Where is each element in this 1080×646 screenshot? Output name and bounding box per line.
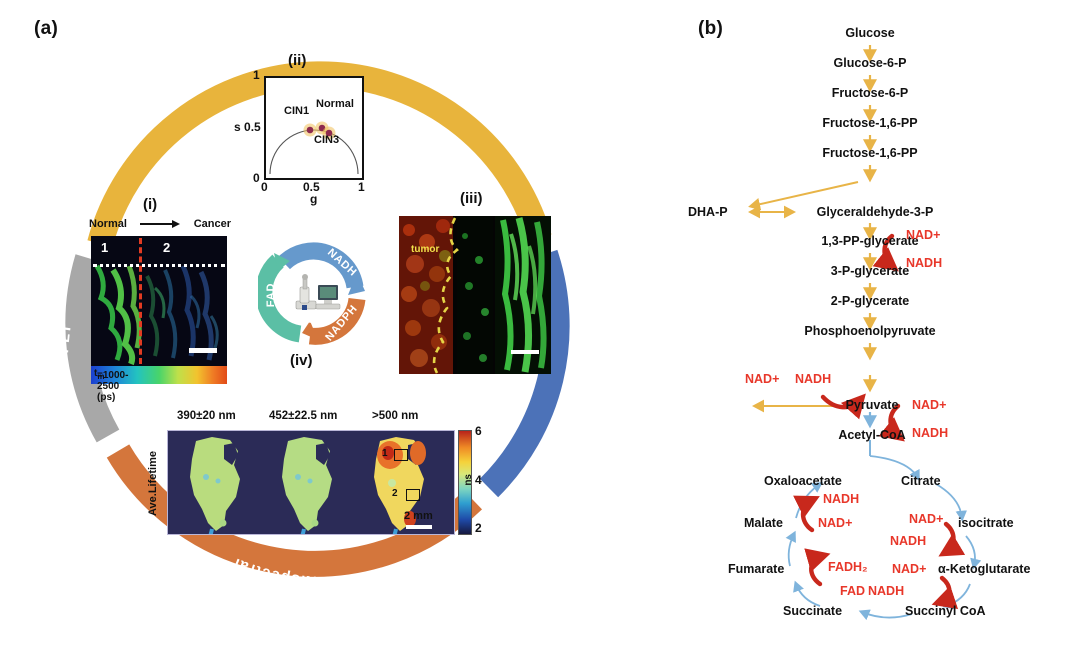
- node-oxaloacetate: Oxaloacetate: [764, 474, 842, 488]
- node-acetyl-coa: Acetyl-CoA: [838, 428, 905, 442]
- flim-region-2-label: 2: [163, 240, 170, 255]
- node-13-pp-glycerate: 1,3-PP-glycerate: [821, 234, 918, 248]
- node-2-p-glycerate: 2-P-glycerate: [831, 294, 910, 308]
- cofactor-arrow-iso-kg: [940, 578, 949, 602]
- phasor-point-label-cin3: CIN3: [314, 134, 339, 146]
- cofactor-arrow-cit-iso: [946, 524, 954, 552]
- flim-region-1-label: 1: [101, 240, 108, 255]
- ms-scalebar-label: 2 mm: [404, 510, 433, 522]
- ring-label-flt: FLT: [55, 322, 75, 354]
- phasor-ytick-top: 1: [253, 68, 260, 82]
- cofactor-curved-arrows: [803, 236, 954, 602]
- ms-roi-2[interactable]: [406, 489, 420, 501]
- ratio-tumor-annotation: tumor: [411, 244, 439, 255]
- cofactor-arrow-suc-fum: [811, 556, 822, 584]
- node-citrate: Citrate: [901, 474, 941, 488]
- node-phosphoenolpyruvate: Phosphoenolpyruvate: [804, 324, 935, 338]
- node-pyruvate: Pyruvate: [846, 398, 899, 412]
- ratio-image-panel: tumor: [399, 216, 551, 374]
- phasor-universal-circle: [266, 78, 362, 178]
- panel-b-metabolic-pathway: (b): [660, 0, 1080, 646]
- ms-scalebar: [406, 525, 432, 529]
- subpanel-label-iii: (iii): [460, 190, 483, 207]
- node-fructose-16-pp-b: Fructose-1,6-PP: [822, 146, 917, 160]
- node-glucose-6-p: Glucose-6-P: [834, 56, 907, 70]
- flim-boundary-dashed-line: [139, 238, 142, 364]
- node-fumarate: Fumarate: [728, 562, 784, 576]
- flim-colorbar-label: tm=1000-2500 (ps): [94, 368, 104, 381]
- flim-colorbar: tm=1000-2500 (ps): [91, 366, 227, 384]
- ratio-scalebar: [511, 350, 539, 354]
- instrument-hub: NADH NADPH FAD: [258, 237, 370, 349]
- flim-image-panel: Normal Cancer: [91, 236, 227, 384]
- cofactor-label-gap-nadh: NADH: [906, 256, 942, 270]
- ms-roi-2-label: 2: [392, 488, 398, 499]
- cofactor-label-pyracc-nadh: NADH: [912, 426, 948, 440]
- node-malate: Malate: [744, 516, 783, 530]
- hub-svg: NADH NADPH FAD: [258, 237, 370, 349]
- node-a-ketoglutarate: α-Ketoglutarate: [938, 562, 1030, 576]
- cofactor-label-maloaa-nadplus: NAD+: [818, 516, 852, 530]
- flim-label-cancer: Cancer: [194, 218, 231, 230]
- node-fructose-6-p: Fructose-6-P: [832, 86, 908, 100]
- ms-channel-title-2: 452±22.5 nm: [269, 410, 337, 422]
- node-fructose-16-pp-a: Fructose-1,6-PP: [822, 116, 917, 130]
- ms-roi-1[interactable]: [394, 449, 408, 461]
- ms-colorbar-min: 2: [475, 521, 482, 535]
- phasor-ylabel: s 0.5: [234, 120, 261, 134]
- right-arrow-icon: [140, 219, 180, 229]
- multispectral-panel: 390±20 nm 452±22.5 nm >500 nm Ave.Lifeti…: [167, 430, 477, 535]
- node-succinyl-coa: Succinyl CoA: [905, 604, 986, 618]
- phasor-xtick-0: 0: [261, 180, 268, 194]
- phasor-point-label-normal: Normal: [316, 98, 354, 110]
- phasor-plot: 1 s 0.5 0 0 0.5 1 g CIN1 Normal CIN3: [236, 72, 366, 194]
- cofactor-label-lactate-nadh: NADH: [795, 372, 831, 386]
- node-3-p-glycerate: 3-P-glycerate: [831, 264, 910, 278]
- node-succinate: Succinate: [783, 604, 842, 618]
- node-dha-p: DHA-P: [688, 205, 728, 219]
- cofactor-label-isokg-nadplus: NAD+: [892, 562, 926, 576]
- flim-label-normal: Normal: [89, 218, 127, 230]
- node-glucose: Glucose: [845, 26, 894, 40]
- ms-colorbar-unit: ns: [463, 474, 474, 486]
- cofactor-arrow-mal-oaa: [803, 500, 812, 530]
- phasor-axes-box: [264, 76, 364, 180]
- cofactor-label-maloaa-nadh: NADH: [823, 492, 859, 506]
- cofactor-label-isokg-nadh: NADH: [868, 584, 904, 598]
- cofactor-label-gap-nadplus: NAD+: [906, 228, 940, 242]
- node-glyceraldehyde-3-p: Glyceraldehyde-3-P: [817, 205, 934, 219]
- cofactor-label-lactate-nadplus: NAD+: [745, 372, 779, 386]
- ms-colorbar-max: 6: [475, 424, 482, 438]
- cofactor-label-citiso-nadh: NADH: [890, 534, 926, 548]
- ms-channel-title-3: >500 nm: [372, 410, 418, 422]
- ms-channel-title-1: 390±20 nm: [177, 410, 236, 422]
- figure-root: (a) Phasor plot Ratio Mu: [0, 0, 1080, 646]
- subpanel-label-ii: (ii): [288, 52, 306, 69]
- flim-dotted-guide: [93, 264, 225, 267]
- ms-ylabel: Ave.Lifetime: [145, 440, 161, 526]
- phasor-point-label-cin1: CIN1: [284, 105, 309, 117]
- hub-label-fad: FAD: [265, 283, 277, 307]
- node-isocitrate: isocitrate: [958, 516, 1014, 530]
- ms-colorbar-mid: 4: [475, 473, 482, 487]
- phasor-xtick-1: 1: [358, 180, 365, 194]
- subpanel-label-i: (i): [143, 196, 157, 213]
- flim-progression-label: Normal Cancer: [89, 216, 231, 232]
- ms-image-canvas: 1 2 2 mm: [167, 430, 455, 535]
- ms-roi-1-label: 1: [382, 448, 388, 459]
- phasor-xlabel: g: [310, 192, 317, 206]
- subpanel-label-iv: (iv): [290, 352, 313, 369]
- cofactor-label-sucfum-fad: FAD: [840, 584, 865, 598]
- cofactor-label-pyracc-nadplus: NAD+: [912, 398, 946, 412]
- flim-texture: [91, 236, 227, 366]
- flim-image-canvas: [91, 236, 227, 366]
- cofactor-label-sucfum-fadh2: FADH₂: [828, 560, 868, 574]
- phasor-ytick-bottom: 0: [253, 171, 260, 185]
- cofactor-label-citiso-nadplus: NAD+: [909, 512, 943, 526]
- flim-scalebar: [189, 348, 217, 353]
